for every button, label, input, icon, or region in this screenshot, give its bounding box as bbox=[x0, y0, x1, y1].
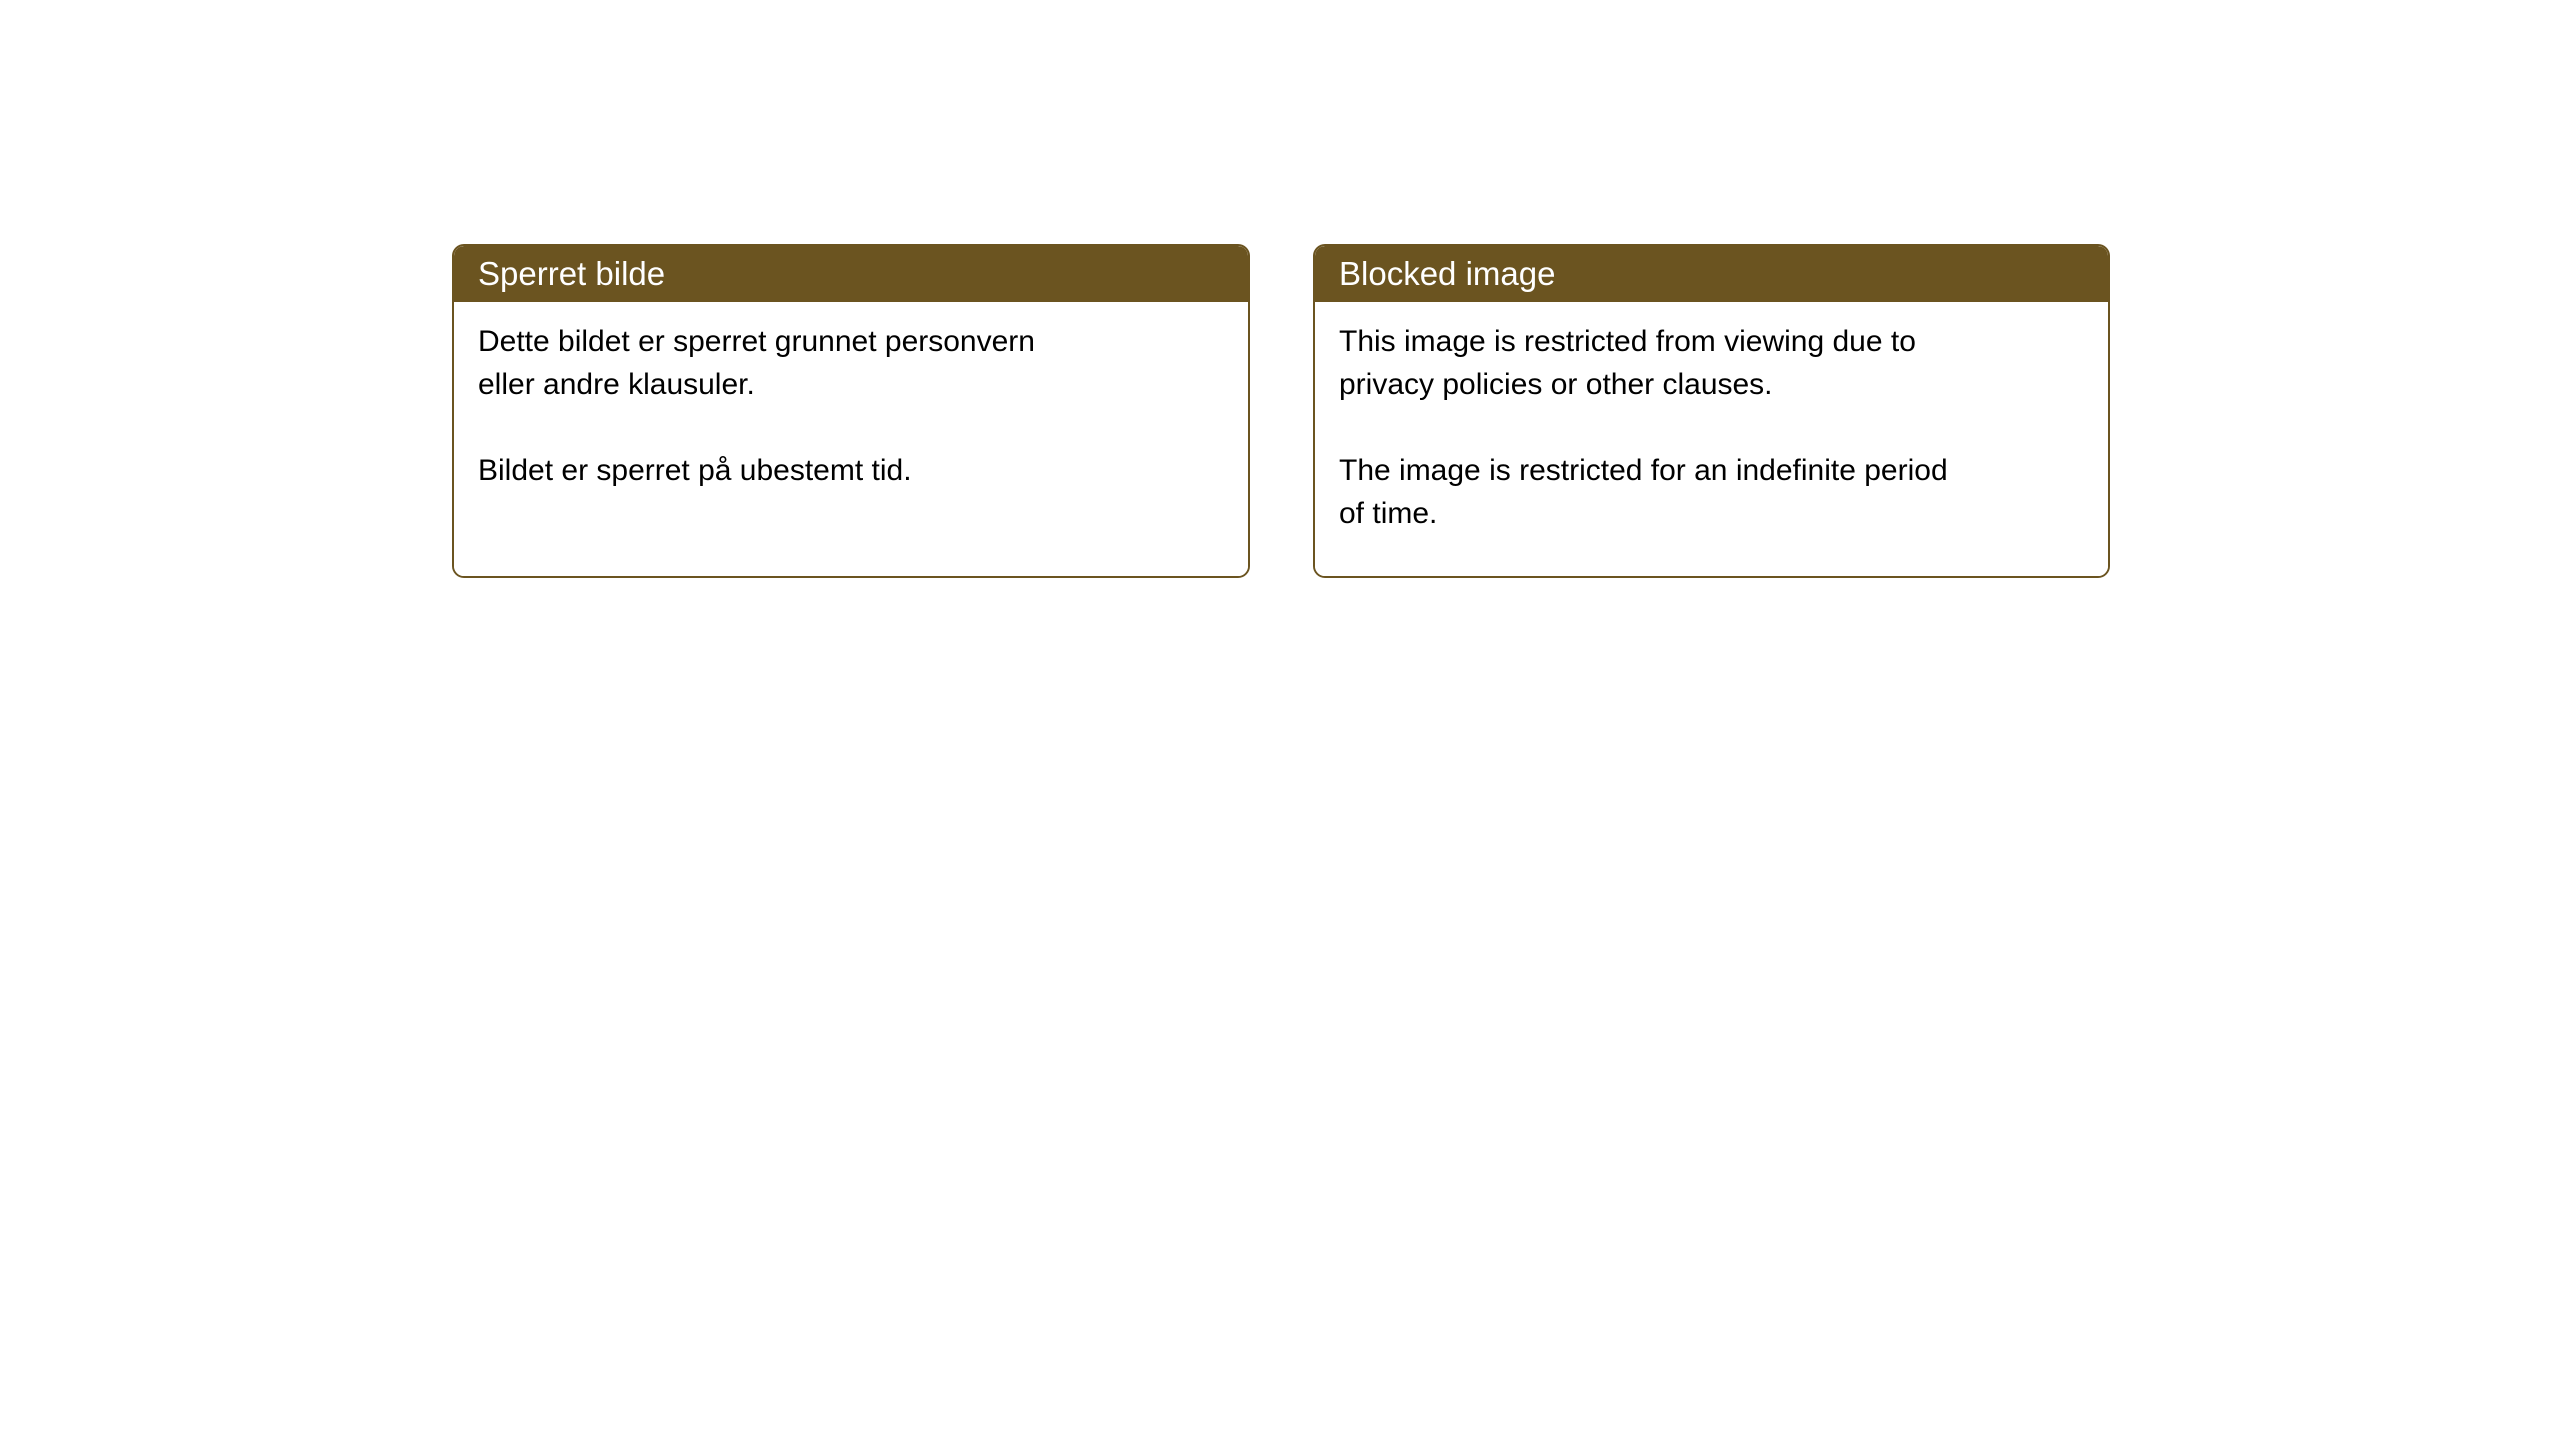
panel-header-norwegian: Sperret bilde bbox=[454, 246, 1248, 302]
panel-body-norwegian: Dette bildet er sperret grunnet personve… bbox=[454, 302, 1248, 576]
blocked-image-panel-english: Blocked image This image is restricted f… bbox=[1313, 244, 2110, 578]
panel-paragraph-duration-english: The image is restricted for an indefinit… bbox=[1339, 449, 2086, 535]
panel-body-english: This image is restricted from viewing du… bbox=[1315, 302, 2108, 576]
panel-title-norwegian: Sperret bilde bbox=[478, 255, 665, 293]
panel-header-english: Blocked image bbox=[1315, 246, 2108, 302]
notice-stage: Sperret bilde Dette bildet er sperret gr… bbox=[0, 0, 2560, 1440]
blocked-image-panel-norwegian: Sperret bilde Dette bildet er sperret gr… bbox=[452, 244, 1250, 578]
panel-paragraph-reason-english: This image is restricted from viewing du… bbox=[1339, 320, 2086, 406]
panel-paragraph-duration-norwegian: Bildet er sperret på ubestemt tid. bbox=[478, 449, 1226, 492]
panel-paragraph-reason-norwegian: Dette bildet er sperret grunnet personve… bbox=[478, 320, 1226, 406]
panel-title-english: Blocked image bbox=[1339, 255, 1555, 293]
